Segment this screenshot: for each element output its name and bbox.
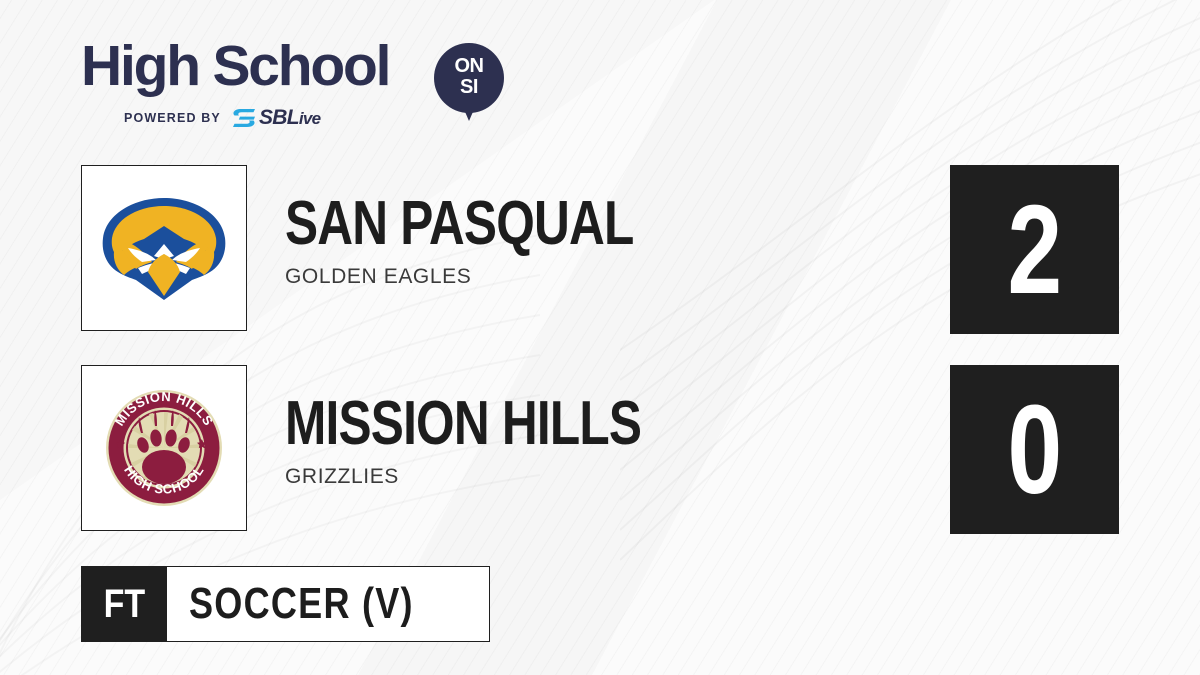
pin-label-bottom: SI (434, 77, 504, 98)
status-sport-container: SOCCER (V) (167, 567, 489, 641)
score-box-mission-hills: 0 (950, 365, 1119, 534)
game-status-bar: FT SOCCER (V) (81, 566, 490, 642)
team-logo-box-mission-hills: MISSION HILLS HIGH SCHOOL (81, 365, 247, 531)
score-value: 0 (1008, 387, 1061, 513)
status-period-label: FT (104, 584, 146, 624)
sblive-s-mark-icon (231, 108, 257, 128)
status-sport-label: SOCCER (V) (189, 582, 414, 626)
sblive-word-upper: SBL (259, 106, 299, 129)
status-period-badge: FT (82, 567, 167, 641)
sblive-logo: SBLive (231, 106, 320, 130)
team-info-mission-hills: MISSION HILLS GRIZZLIES (285, 393, 905, 488)
mission-hills-bear-paw-crest-icon: MISSION HILLS HIGH SCHOOL (105, 389, 223, 507)
score-value: 2 (1008, 187, 1061, 313)
pin-label-top: ON (434, 56, 504, 77)
powered-by-row: POWERED BY SBLive (124, 108, 320, 128)
sblive-wordmark: SBLive (259, 106, 320, 130)
team-logo-box-san-pasqual (81, 165, 247, 331)
team-mascot: GRIZZLIES (285, 466, 905, 488)
scoreboard-graphic: High School ON SI POWERED BY SBLive (0, 0, 1200, 675)
score-box-san-pasqual: 2 (950, 165, 1119, 334)
sblive-word-lower: ive (299, 109, 321, 128)
golden-eagle-head-icon (98, 192, 230, 304)
team-mascot: GOLDEN EAGLES (285, 266, 905, 288)
team-name: SAN PASQUAL (285, 193, 781, 255)
team-info-san-pasqual: SAN PASQUAL GOLDEN EAGLES (285, 193, 905, 288)
team-name: MISSION HILLS (285, 393, 781, 455)
powered-by-label: POWERED BY (124, 111, 221, 125)
on-si-pin-icon: ON SI (434, 43, 504, 121)
pin-label: ON SI (434, 56, 504, 98)
